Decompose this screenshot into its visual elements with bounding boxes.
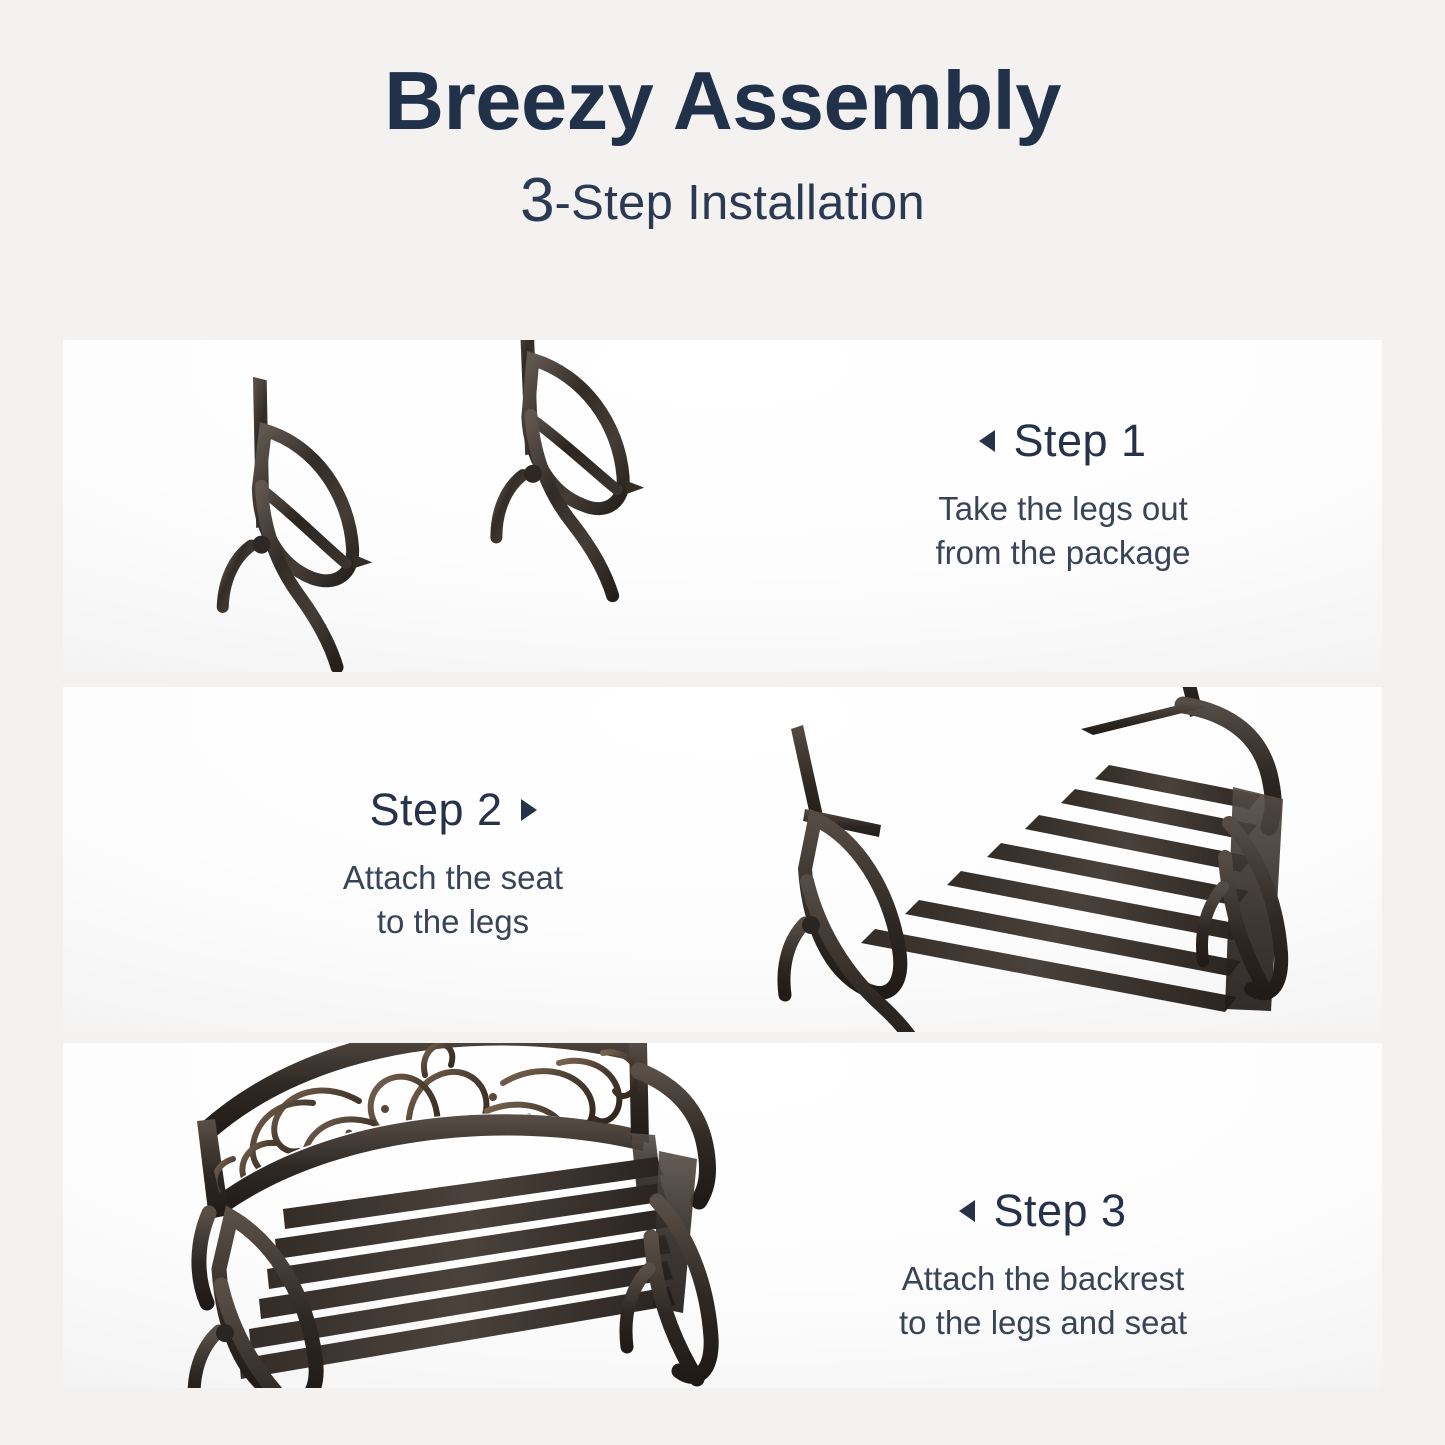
seat-slats xyxy=(861,765,1261,1012)
step-2-text-block: Step 2 Attach the seat to the legs xyxy=(213,787,693,944)
step-3-description-line-1: Attach the backrest xyxy=(763,1257,1323,1301)
armrest-left-final xyxy=(199,1213,209,1303)
complete-bench-artwork xyxy=(163,1043,783,1388)
step-3-heading: Step 3 xyxy=(763,1188,1323,1233)
step-panel-2: Step 2 Attach the seat to the legs xyxy=(63,687,1382,1032)
step-1-description: Take the legs out from the package xyxy=(823,487,1303,575)
step-1-description-line-1: Take the legs out xyxy=(823,487,1303,531)
page-subtitle: 3-Step Installation xyxy=(0,146,1445,232)
step-2-label: Step 2 xyxy=(369,787,502,832)
step-3-description: Attach the backrest to the legs and seat xyxy=(763,1257,1323,1345)
assembly-infographic: Breezy Assembly 3-Step Installation xyxy=(0,0,1445,1445)
step-1-text-block: Step 1 Take the legs out from the packag… xyxy=(823,418,1303,575)
step-3-description-line-2: to the legs and seat xyxy=(763,1301,1323,1345)
step-3-label: Step 3 xyxy=(993,1188,1126,1233)
step-1-description-line-2: from the package xyxy=(823,531,1303,575)
step-1-heading: Step 1 xyxy=(823,418,1303,463)
step-panel-1: Step 1 Take the legs out from the packag… xyxy=(63,340,1382,672)
step-1-label: Step 1 xyxy=(1013,418,1146,463)
bench-leg-right xyxy=(493,340,657,597)
bench-legs-artwork xyxy=(183,340,743,672)
subtitle-text: -Step Installation xyxy=(555,176,925,230)
subtitle-step-count: 3 xyxy=(520,166,554,235)
step-2-description-line-1: Attach the seat xyxy=(213,856,693,900)
step-3-text-block: Step 3 Attach the backrest to the legs a… xyxy=(763,1188,1323,1345)
step-2-heading: Step 2 xyxy=(213,787,693,832)
triangle-right-icon xyxy=(521,799,537,821)
header: Breezy Assembly 3-Step Installation xyxy=(0,0,1445,232)
seat-slats-final xyxy=(239,1157,675,1379)
page-title: Breezy Assembly xyxy=(0,0,1445,146)
bench-leg-left xyxy=(217,376,390,670)
bench-seat-artwork xyxy=(763,687,1382,1032)
bench-leg-left-seated xyxy=(784,819,935,1032)
triangle-left-icon xyxy=(959,1200,975,1222)
step-2-description-line-2: to the legs xyxy=(213,900,693,944)
step-2-description: Attach the seat to the legs xyxy=(213,856,693,944)
steps-container: Step 1 Take the legs out from the packag… xyxy=(63,340,1382,1388)
step-panel-3: Step 3 Attach the backrest to the legs a… xyxy=(63,1043,1382,1388)
triangle-left-icon xyxy=(979,430,995,452)
